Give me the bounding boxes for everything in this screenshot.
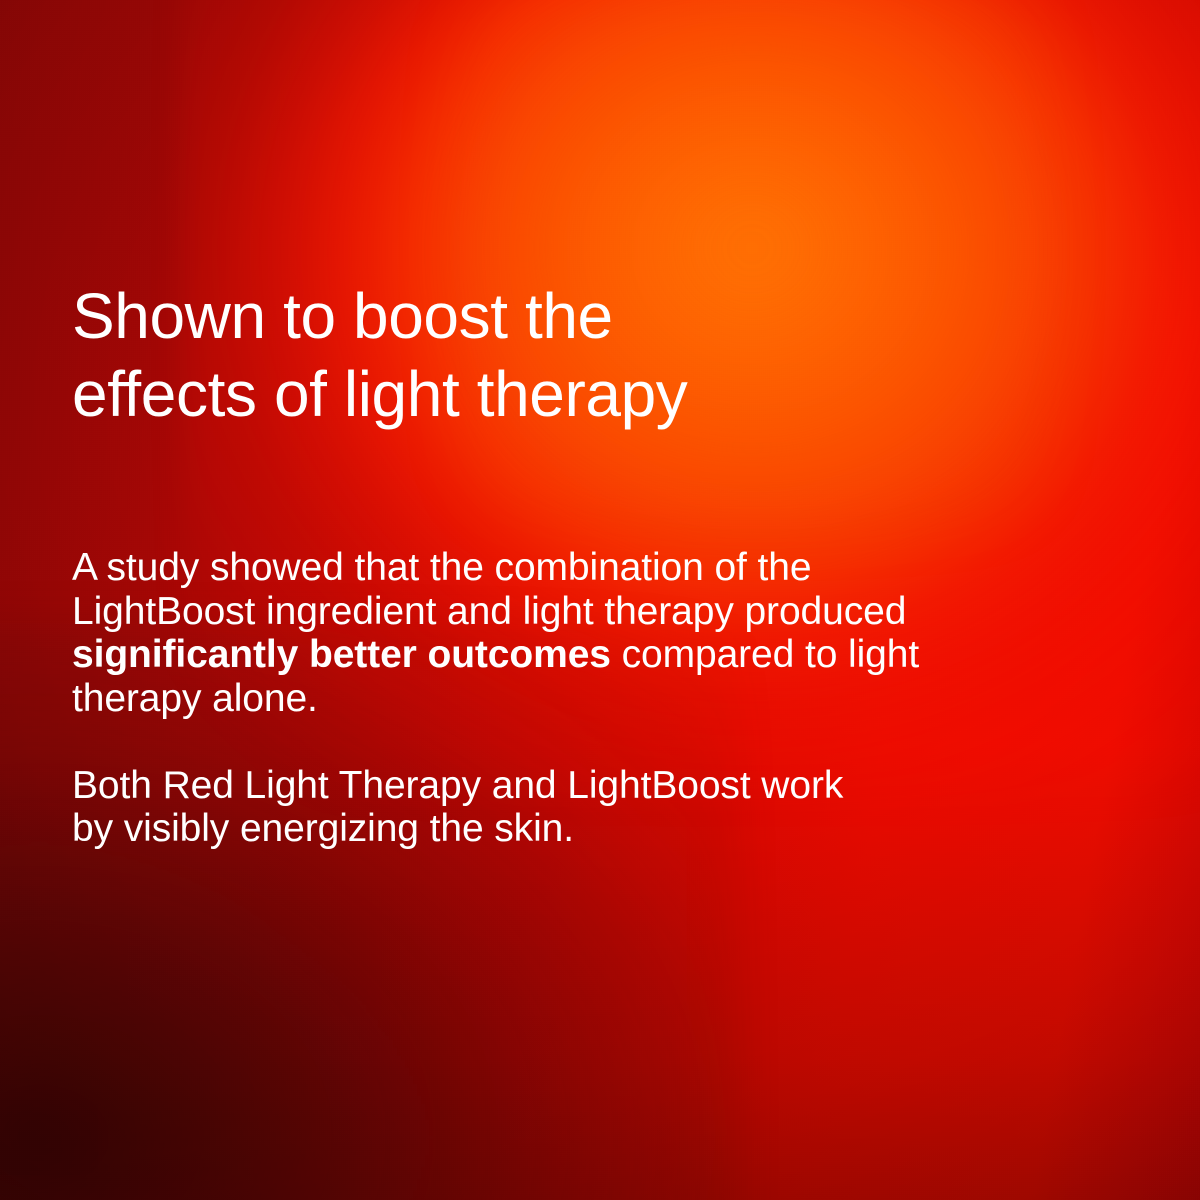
body-paragraph-2: Both Red Light Therapy and LightBoost wo… (72, 764, 972, 851)
body-paragraph-1: A study showed that the combination of t… (72, 546, 972, 720)
headline: Shown to boost the effects of light ther… (72, 277, 1012, 433)
body-paragraph-1-lead: A study showed that the combination of t… (72, 546, 906, 633)
body-paragraph-1-emphasis: significantly better outcomes (72, 633, 611, 676)
promo-card: Shown to boost the effects of light ther… (0, 0, 1200, 1200)
body-copy: A study showed that the combination of t… (72, 546, 972, 851)
content-layer: Shown to boost the effects of light ther… (0, 0, 1200, 1200)
